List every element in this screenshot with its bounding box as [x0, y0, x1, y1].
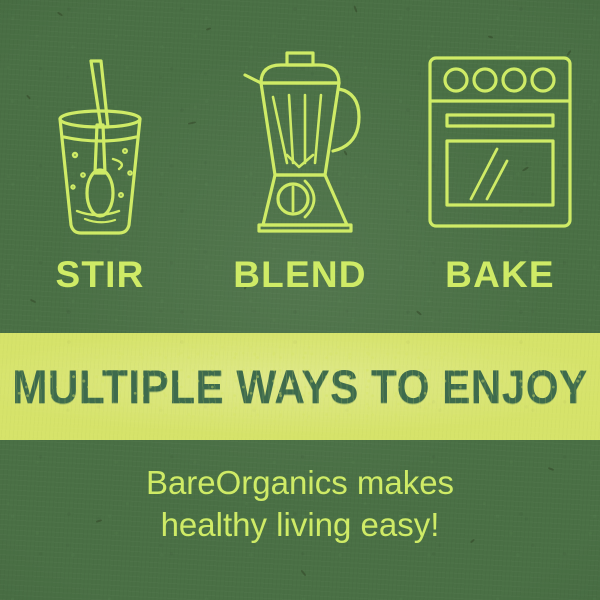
- step-icon-blend: [200, 42, 400, 242]
- texture-speck: [301, 570, 307, 577]
- spoon-handle: [95, 125, 105, 173]
- steps-icon-row: [0, 42, 600, 242]
- step-icon-stir: [0, 42, 200, 242]
- step-label-blend: BLEND: [200, 256, 400, 293]
- blender-foot: [259, 225, 351, 231]
- texture-speck: [353, 5, 357, 12]
- tagline-line-1: BareOrganics makes: [0, 462, 600, 504]
- straw-shape: [91, 61, 108, 127]
- steps-label-row: STIR BLEND BAKE: [0, 248, 600, 300]
- poster-canvas: STIR BLEND BAKE MULTIPLE WAYS TO ENJOY B…: [0, 0, 600, 600]
- texture-speck: [57, 11, 63, 16]
- pour-spout: [245, 75, 339, 83]
- headline-text: MULTIPLE WAYS TO ENJOY: [30, 333, 570, 440]
- tagline-line-2: healthy living easy!: [0, 504, 600, 546]
- headline-banner: MULTIPLE WAYS TO ENJOY: [0, 333, 600, 440]
- step-icon-bake: [400, 42, 600, 242]
- lid-knob: [287, 53, 313, 65]
- texture-speck: [416, 310, 422, 315]
- oven-knob: [445, 69, 467, 91]
- step-label-stir: STIR: [0, 256, 200, 293]
- oven-knob: [474, 69, 496, 91]
- blender-lid: [261, 65, 339, 83]
- window-glint: [471, 149, 497, 199]
- tagline-block: BareOrganics makes healthy living easy!: [0, 462, 600, 546]
- oven-knob: [532, 69, 554, 91]
- spoon-bowl: [87, 170, 113, 216]
- window-glint: [487, 161, 507, 199]
- texture-speck: [488, 35, 493, 38]
- oven-knob: [503, 69, 525, 91]
- oven-handle: [447, 115, 553, 126]
- step-label-bake: BAKE: [400, 256, 600, 293]
- texture-speck: [206, 27, 211, 31]
